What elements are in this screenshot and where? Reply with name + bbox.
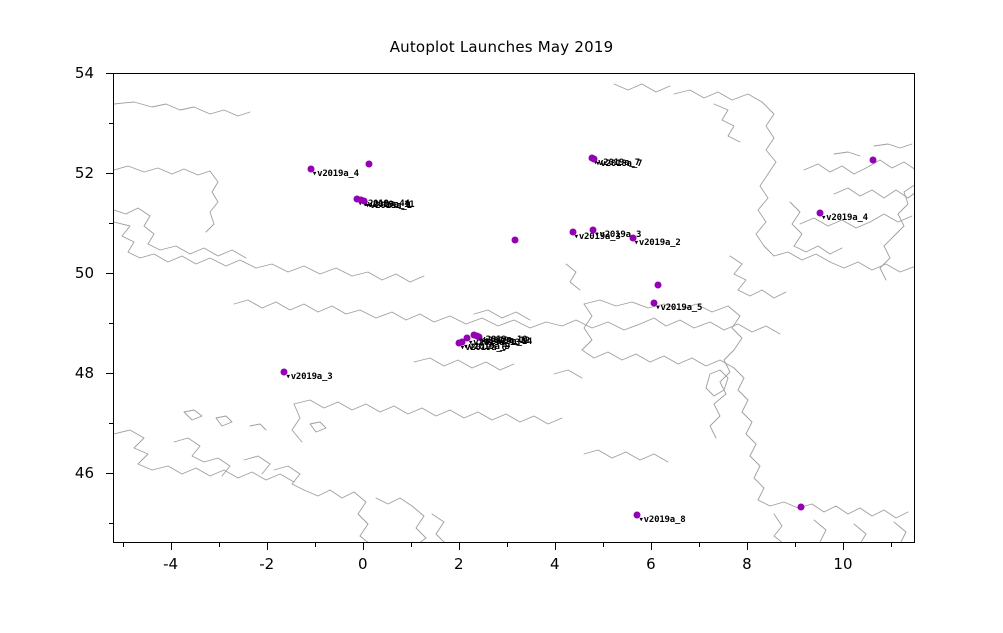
x-tick-minor [699, 543, 700, 547]
y-tick-label: 48 [34, 364, 94, 382]
x-tick-label: -2 [237, 555, 297, 573]
x-tick-minor [603, 543, 604, 547]
data-point-label: ▾v2018a_7 [595, 159, 642, 169]
x-tick-minor [123, 543, 124, 547]
y-tick-label: 50 [34, 264, 94, 282]
data-point-marker[interactable] [869, 157, 876, 164]
y-tick-label: 54 [34, 64, 94, 82]
x-tick-minor [891, 543, 892, 547]
y-tick-label: 52 [34, 164, 94, 182]
x-tick-label: -4 [141, 555, 201, 573]
data-point-marker[interactable] [512, 237, 519, 244]
x-tick-major [171, 543, 172, 550]
data-point-label: ▾v2019a_2 [634, 238, 681, 248]
y-tick-major [106, 173, 113, 174]
y-tick-major [106, 73, 113, 74]
data-point-label: ▾v2019a_5 [655, 303, 702, 313]
y-tick-minor [109, 323, 113, 324]
figure-canvas: Autoplot Launches May 2019 [0, 0, 1003, 633]
x-tick-major [555, 543, 556, 550]
basemap-coastlines [114, 74, 915, 543]
data-point-label: ▾v2019a_4 [312, 169, 359, 179]
x-tick-major [459, 543, 460, 550]
y-tick-minor [109, 423, 113, 424]
y-tick-minor [109, 123, 113, 124]
x-tick-minor [795, 543, 796, 547]
x-tick-label: 2 [429, 555, 489, 573]
data-point-marker[interactable] [654, 282, 661, 289]
x-tick-major [363, 543, 364, 550]
data-point-marker[interactable] [365, 161, 372, 168]
y-tick-minor [109, 223, 113, 224]
data-point-label: ▾v2019a_6 [460, 343, 507, 353]
x-tick-label: 0 [333, 555, 393, 573]
map-plot-area[interactable]: ▾v2019a_4▾v2019a_44▾v2019a_11▾v2019a_1▾v… [113, 73, 915, 543]
y-tick-major [106, 373, 113, 374]
x-tick-label: 6 [621, 555, 681, 573]
page-title: Autoplot Launches May 2019 [0, 38, 1003, 56]
x-tick-minor [507, 543, 508, 547]
x-tick-major [267, 543, 268, 550]
x-tick-minor [315, 543, 316, 547]
x-tick-label: 8 [717, 555, 777, 573]
data-point-label: ▾v2019a_8 [638, 515, 685, 525]
x-tick-major [843, 543, 844, 550]
data-point-label: ▾v2019a_3 [285, 372, 332, 382]
x-tick-label: 4 [525, 555, 585, 573]
x-tick-major [747, 543, 748, 550]
y-tick-major [106, 273, 113, 274]
x-tick-major [651, 543, 652, 550]
data-point-label: ▾v2019a_1 [365, 201, 412, 211]
y-tick-major [106, 473, 113, 474]
x-tick-label: 10 [813, 555, 873, 573]
y-tick-minor [109, 523, 113, 524]
data-point-marker[interactable] [797, 503, 804, 510]
x-tick-minor [411, 543, 412, 547]
data-point-label: ▾v2019a_4 [821, 213, 868, 223]
y-tick-label: 46 [34, 464, 94, 482]
x-tick-minor [219, 543, 220, 547]
